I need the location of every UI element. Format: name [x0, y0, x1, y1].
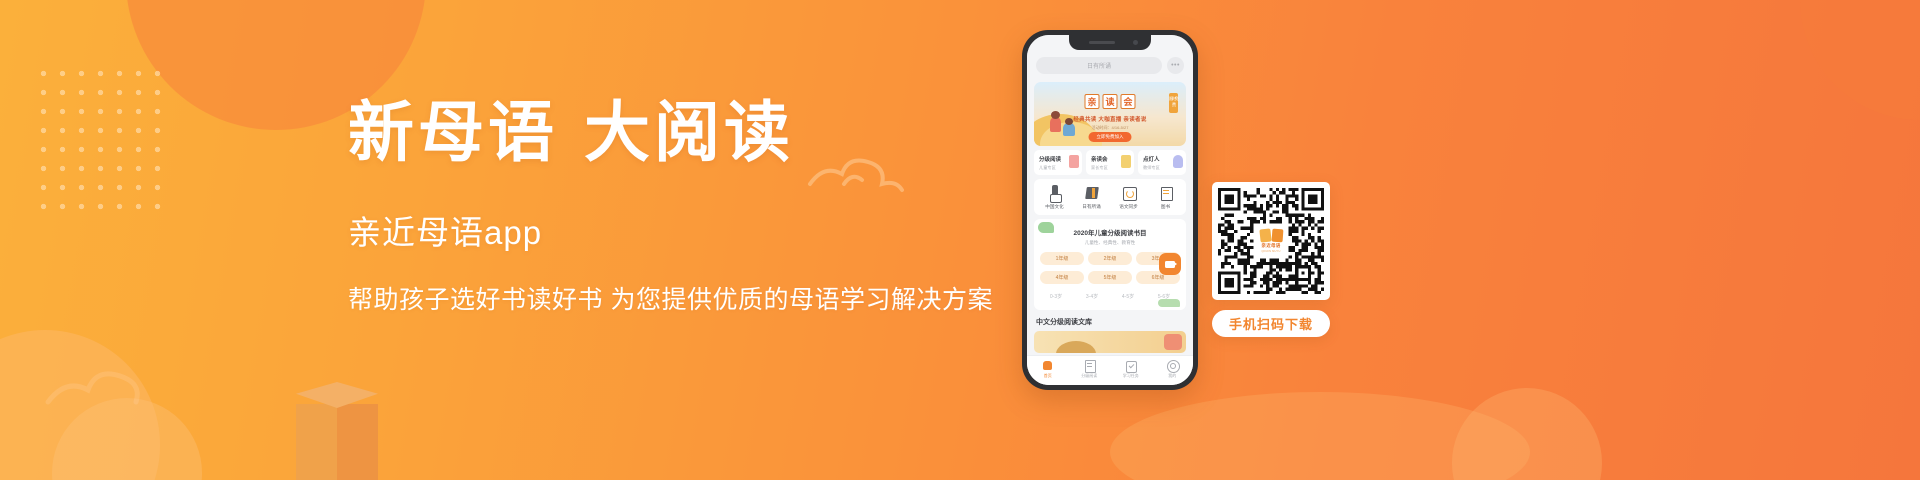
lamp-icon	[1173, 155, 1183, 168]
culture-icon	[1047, 185, 1063, 201]
hero-subtitle: 经典共读 大咖直播 亲读者说	[1073, 115, 1146, 123]
age-tag[interactable]: 0-3岁	[1040, 290, 1072, 303]
quick-link-daily-recite[interactable]: 日有所诵	[1073, 185, 1110, 210]
category-card-parent-club[interactable]: 亲读会 家长专区	[1086, 150, 1134, 175]
brand-mark-icon	[1260, 229, 1283, 242]
profile-icon	[1167, 360, 1178, 371]
video-play-button[interactable]	[1159, 253, 1181, 275]
phone-screen: 日有所诵 ••• 亲 读 会 限时免费 经典共读 大咖直播 亲读者说 活动	[1027, 35, 1193, 385]
quick-link-label: 中国文化	[1036, 204, 1073, 210]
booklist-title: 2020年儿童分级阅读书目	[1040, 227, 1180, 237]
qr-logo-subtext: QINJIN MUYU	[1261, 250, 1280, 253]
note-icon	[1121, 155, 1131, 168]
decorative-circle-top-right	[1800, 0, 1920, 120]
tab-graded-reading[interactable]: 分级阅读	[1069, 356, 1111, 385]
home-icon	[1042, 360, 1053, 371]
decorative-cube	[296, 404, 378, 480]
bottom-tab-bar: 首页 分级阅读 学习任务 我的	[1027, 355, 1193, 385]
phone-mockup: 日有所诵 ••• 亲 读 会 限时免费 经典共读 大咖直播 亲读者说 活动	[1022, 30, 1198, 390]
qr-code: 亲近母语 QINJIN MUYU	[1218, 188, 1324, 294]
grade-tag[interactable]: 1年级	[1040, 252, 1084, 265]
quick-link-sync[interactable]: 语文同步	[1110, 185, 1147, 210]
booklist-subtitle: 儿童性、经典性、教育性	[1040, 240, 1180, 246]
quick-link-library[interactable]: 图书	[1147, 185, 1184, 210]
library-icon	[1158, 185, 1174, 201]
category-cards: 分级阅读 儿童专区 亲读会 家长专区 点灯人 教师专区	[1034, 150, 1186, 175]
tagline: 帮助孩子选好书读好书 为您提供优质的母语学习解决方案	[348, 280, 1048, 316]
decorative-circle-bottom-right	[1452, 388, 1602, 480]
cloud-swirl-icon-2	[40, 352, 180, 422]
hero-title-char: 读	[1103, 94, 1118, 109]
phone-notch	[1069, 35, 1151, 50]
qr-code-card: 亲近母语 QINJIN MUYU	[1212, 182, 1330, 300]
dot-grid-pattern	[34, 64, 170, 214]
tab-label: 我的	[1152, 373, 1194, 379]
grade-tag-row-2: 4年级 5年级 6年级	[1040, 271, 1180, 284]
hero-banner[interactable]: 亲 读 会 限时免费 经典共读 大咖直播 亲读者说 活动时间：4/16-5/27…	[1034, 82, 1186, 146]
read-icon	[1084, 360, 1095, 371]
quick-icon-row: 中国文化 日有所诵 语文同步 图书	[1034, 179, 1186, 215]
hero-child-illustration-1	[1050, 117, 1061, 132]
sync-icon	[1121, 185, 1137, 201]
library-section-title: 中文分级阅读文库	[1036, 317, 1184, 327]
hero-badge: 限时免费	[1169, 93, 1178, 113]
hero-title: 亲 读 会	[1085, 94, 1136, 109]
copy-block: 新母语大阅读 亲近母语app 帮助孩子选好书读好书 为您提供优质的母语学习解决方…	[348, 94, 1048, 316]
headline-part-1: 新母语	[348, 93, 558, 171]
quick-link-label: 图书	[1147, 204, 1184, 210]
bookmark-icon	[1069, 155, 1079, 168]
quick-link-label: 日有所诵	[1073, 204, 1110, 210]
tab-profile[interactable]: 我的	[1152, 356, 1194, 385]
headline-part-2: 大阅读	[584, 93, 794, 171]
subtitle: 亲近母语app	[348, 206, 1048, 254]
promo-banner: 新母语大阅读 亲近母语app 帮助孩子选好书读好书 为您提供优质的母语学习解决方…	[0, 0, 1920, 480]
leaf-decor-icon	[1038, 222, 1054, 233]
tab-label: 分级阅读	[1069, 373, 1111, 379]
decorative-phone-shadow	[1110, 392, 1530, 480]
grade-tag[interactable]: 5年级	[1088, 271, 1132, 284]
hero-cta-button[interactable]: 立即免费加入	[1089, 132, 1132, 142]
tab-label: 学习任务	[1110, 373, 1152, 379]
page-title: 新母语大阅读	[348, 94, 1048, 172]
hero-child-illustration-2	[1063, 123, 1075, 136]
category-card-graded-reading[interactable]: 分级阅读 儿童专区	[1034, 150, 1082, 175]
qr-logo-text: 亲近母语	[1261, 243, 1280, 249]
hero-date: 活动时间：4/16-5/27	[1092, 125, 1129, 131]
category-card-teacher[interactable]: 点灯人 教师专区	[1138, 150, 1186, 175]
phone-body: 日有所诵 ••• 亲 读 会 限时免费 经典共读 大咖直播 亲读者说 活动	[1027, 35, 1193, 385]
hero-title-char: 会	[1121, 94, 1136, 109]
age-tag[interactable]: 4-5岁	[1112, 290, 1144, 303]
decorative-circle-bottom-left-small	[52, 398, 202, 480]
speaker-icon	[1089, 41, 1115, 44]
decorative-circle-bottom-left	[0, 330, 160, 480]
age-tag[interactable]: 3-4岁	[1076, 290, 1108, 303]
hero-title-char: 亲	[1085, 94, 1100, 109]
qr-center-logo: 亲近母语 QINJIN MUYU	[1254, 224, 1288, 258]
grade-tag[interactable]: 4年级	[1040, 271, 1084, 284]
scan-download-button[interactable]: 手机扫码下载	[1212, 310, 1330, 337]
search-input[interactable]: 日有所诵	[1036, 57, 1162, 74]
booklist-section: 2020年儿童分级阅读书目 儿童性、经典性、教育性 1年级 2年级 3年级 4年…	[1034, 219, 1186, 310]
tab-home[interactable]: 首页	[1027, 356, 1069, 385]
task-icon	[1125, 360, 1136, 371]
more-icon[interactable]: •••	[1167, 57, 1184, 74]
camera-icon	[1133, 40, 1138, 45]
grade-tag[interactable]: 2年级	[1088, 252, 1132, 265]
library-card[interactable]	[1034, 331, 1186, 353]
quick-link-label: 语文同步	[1110, 204, 1147, 210]
tab-label: 首页	[1027, 373, 1069, 379]
leaf-decor-icon-2	[1158, 299, 1180, 307]
quick-link-culture[interactable]: 中国文化	[1036, 185, 1073, 210]
tab-tasks[interactable]: 学习任务	[1110, 356, 1152, 385]
book-icon	[1084, 185, 1100, 201]
